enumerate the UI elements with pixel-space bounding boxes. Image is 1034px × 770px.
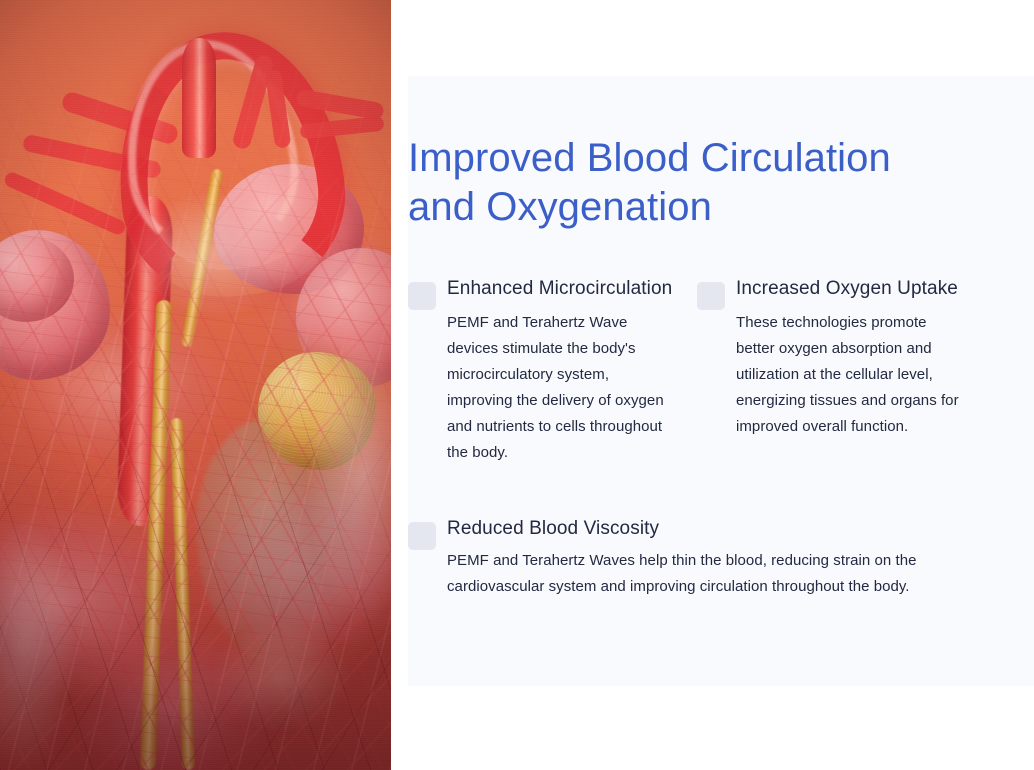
square-bullet-marker-icon (408, 282, 436, 310)
feature-list: Enhanced Microcirculation PEMF and Terah… (408, 276, 1014, 600)
feature-description: PEMF and Terahertz Waves help thin the b… (447, 548, 967, 600)
feature-body: Increased Oxygen Uptake These technologi… (736, 276, 962, 440)
feature-body: Reduced Blood Viscosity PEMF and Teraher… (447, 516, 967, 600)
feature-item-reduced-blood-viscosity[interactable]: Reduced Blood Viscosity PEMF and Teraher… (408, 516, 976, 600)
feature-description: PEMF and Terahertz Wave devices stimulat… (447, 310, 673, 466)
feature-title: Enhanced Microcirculation (447, 276, 673, 301)
feature-row-top: Enhanced Microcirculation PEMF and Terah… (408, 276, 1014, 466)
feature-description: These technologies promote better oxygen… (736, 310, 962, 440)
feature-body: Enhanced Microcirculation PEMF and Terah… (447, 276, 673, 466)
cardiovascular-anatomy-illustration (0, 0, 391, 770)
illustration-grain-overlay (0, 0, 391, 770)
square-bullet-marker-icon (408, 522, 436, 550)
feature-title: Increased Oxygen Uptake (736, 276, 962, 301)
feature-item-enhanced-microcirculation[interactable]: Enhanced Microcirculation PEMF and Terah… (408, 276, 697, 466)
content-panel: Improved Blood Circulation and Oxygenati… (408, 76, 1034, 686)
square-bullet-marker-icon (697, 282, 725, 310)
presentation-slide: Improved Blood Circulation and Oxygenati… (0, 0, 1034, 770)
feature-title: Reduced Blood Viscosity (447, 516, 967, 541)
page-title: Improved Blood Circulation and Oxygenati… (408, 134, 968, 232)
feature-item-increased-oxygen-uptake[interactable]: Increased Oxygen Uptake These technologi… (697, 276, 986, 466)
